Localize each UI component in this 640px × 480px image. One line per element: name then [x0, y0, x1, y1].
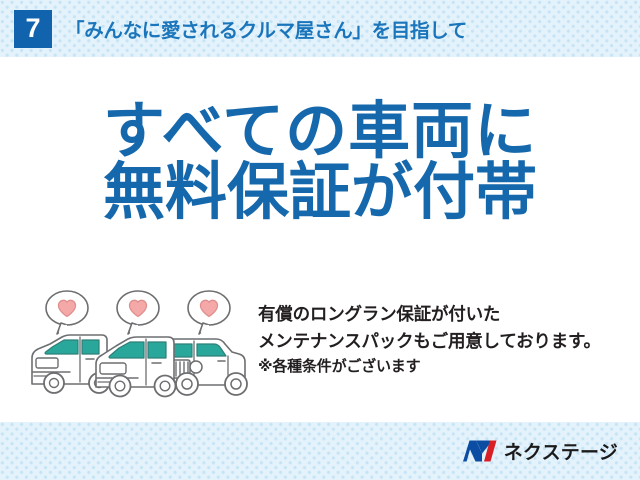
- header-band: 7 「みんなに愛されるクルマ屋さん」を目指して: [0, 0, 640, 57]
- car-minivan-middle: [96, 337, 176, 397]
- body-copy-line-2: メンテナンスパックもご用意しております。: [258, 328, 638, 355]
- brand-name: ネクステージ: [504, 438, 618, 465]
- header-title: 「みんなに愛されるクルマ屋さん」を目指して: [65, 14, 467, 43]
- headline-line-1: すべての車両に: [0, 101, 640, 162]
- nexstage-n-mark-icon: [463, 440, 497, 463]
- heart-bubble-2: [117, 291, 159, 334]
- body-copy-note: ※各種条件がございます: [258, 355, 638, 379]
- heart-bubble-1: [46, 291, 88, 334]
- footer-band: ネクステージ: [0, 422, 640, 480]
- promo-poster: 7 「みんなに愛されるクルマ屋さん」を目指して すべての車両に 無料保証が付帯: [0, 0, 640, 480]
- brand-logo: ネクステージ: [463, 438, 618, 465]
- body-copy: 有償のロングラン保証が付いた メンテナンスパックもご用意しております。 ※各種条…: [258, 301, 638, 379]
- heart-bubble-3: [188, 291, 230, 334]
- header-content: 7 「みんなに愛されるクルマ屋さん」を目指して: [0, 10, 467, 48]
- section-number-badge: 7: [14, 10, 52, 48]
- lower-section: 有償のロングラン保証が付いた メンテナンスパックもご用意しております。 ※各種条…: [0, 286, 640, 406]
- headline-line-2: 無料保証が付帯: [0, 162, 640, 223]
- headline: すべての車両に 無料保証が付帯: [0, 101, 640, 224]
- three-cars-illustration: [20, 288, 255, 400]
- body-copy-line-1: 有償のロングラン保証が付いた: [258, 301, 638, 328]
